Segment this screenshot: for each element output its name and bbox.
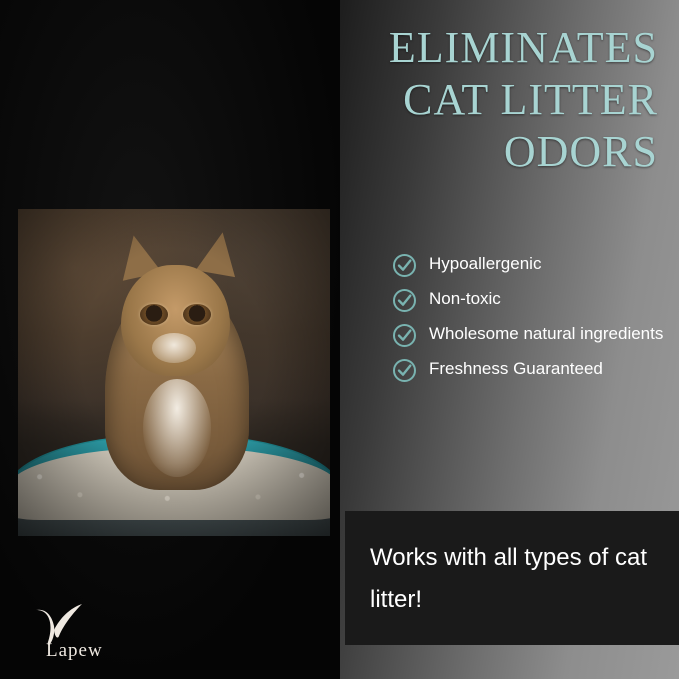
check-circle-icon — [392, 323, 417, 348]
callout-text: Works with all types of cat litter! — [370, 537, 660, 621]
feature-list: Hypoallergenic Non-toxic Wholesome natur… — [392, 252, 668, 392]
feature-label: Wholesome natural ingredients — [429, 322, 663, 346]
list-item: Hypoallergenic — [392, 252, 668, 278]
feature-label: Freshness Guaranteed — [429, 357, 603, 381]
callout-box: Works with all types of cat litter! — [345, 511, 679, 645]
brand-name: Lapew — [46, 640, 103, 662]
headline-line-1: ELIMINATES — [300, 22, 668, 74]
headline: ELIMINATES CAT LITTER ODORS — [300, 22, 668, 178]
list-item: Freshness Guaranteed — [392, 357, 668, 383]
check-circle-icon — [392, 288, 417, 313]
brand-logo: Lapew — [30, 600, 160, 662]
feature-label: Hypoallergenic — [429, 252, 541, 276]
feature-label: Non-toxic — [429, 287, 501, 311]
list-item: Wholesome natural ingredients — [392, 322, 668, 348]
product-ad-banner: ELIMINATES CAT LITTER ODORS Hypoallergen… — [0, 0, 679, 679]
check-circle-icon — [392, 253, 417, 278]
cat-photo — [18, 209, 330, 536]
headline-line-2: CAT LITTER — [300, 74, 668, 126]
check-circle-icon — [392, 358, 417, 383]
headline-line-3: ODORS — [300, 126, 668, 178]
list-item: Non-toxic — [392, 287, 668, 313]
photo-vignette — [18, 209, 330, 536]
